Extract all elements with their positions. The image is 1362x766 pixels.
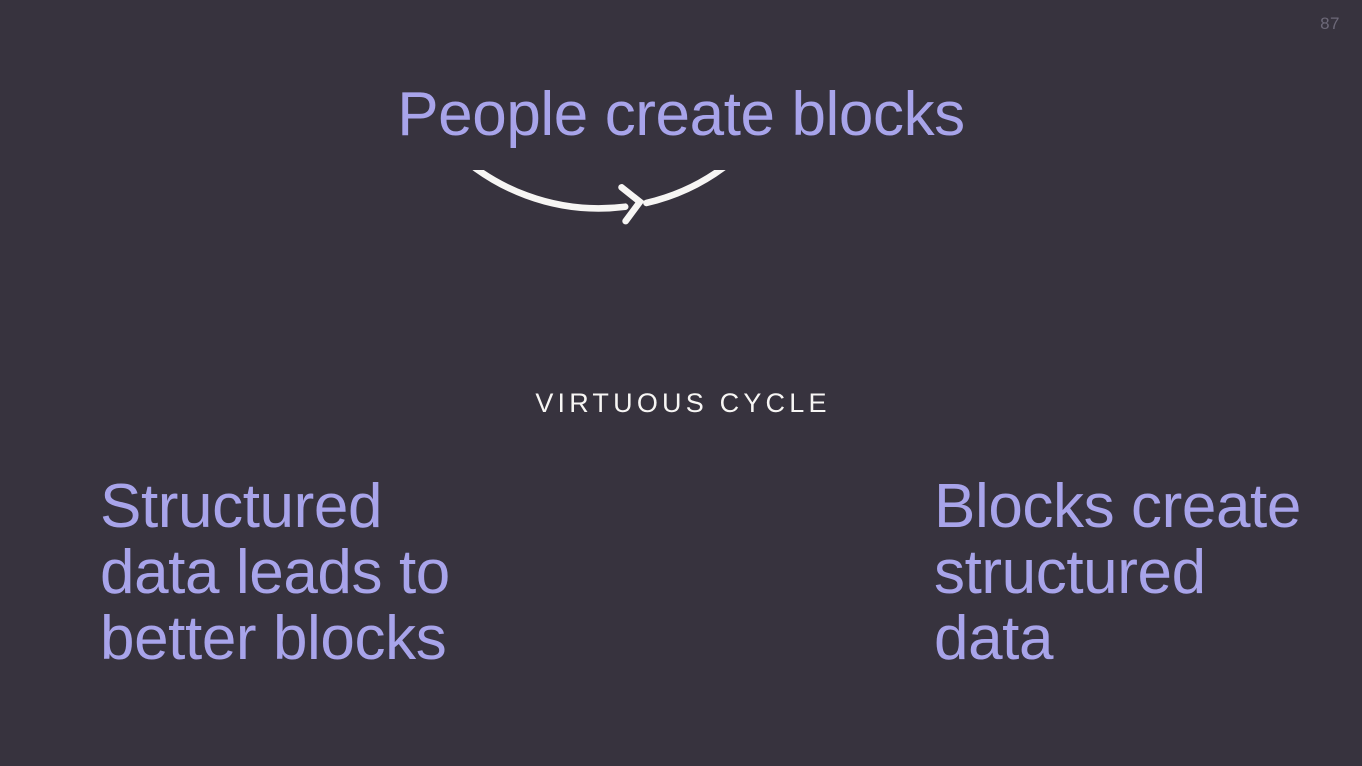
cycle-node-right-label: Blocks create structured data [934,474,1334,672]
cycle-center-label: Virtuous Cycle [443,388,923,419]
slide-canvas: 87 People create blocks Structured data … [0,0,1362,766]
cycle-node-top-label: People create blocks [0,82,1362,148]
page-number: 87 [1320,14,1340,34]
cycle-node-left-label: Structured data leads to better blocks [100,474,480,672]
